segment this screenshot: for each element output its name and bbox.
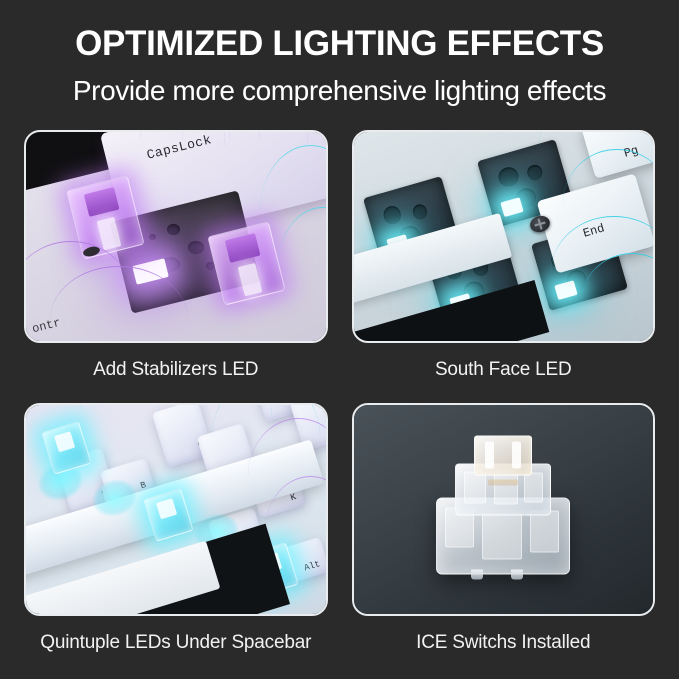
switch-stem	[474, 435, 532, 475]
ice-switch-product-image	[354, 405, 654, 614]
product-photo-south-face-led: Pg End	[352, 130, 656, 343]
feature-cell-ice-switch: ICE Switchs Installed	[352, 403, 656, 654]
keyboard-socket-closeup-image: Pg End	[354, 132, 654, 341]
product-photo-ice-switch	[352, 403, 656, 616]
caption-ice-switchs-installed: ICE Switchs Installed	[416, 632, 590, 654]
feature-grid: CapsLock ontr Add	[0, 130, 679, 654]
keyboard-spacebar-closeup-image: C G U V H J B N K M Alt	[26, 405, 326, 614]
product-photo-add-stabilizers-led: CapsLock ontr	[24, 130, 328, 343]
page-title: OPTIMIZED LIGHTING EFFECTS	[0, 26, 679, 61]
caption-add-stabilizers-led: Add Stabilizers LED	[93, 359, 258, 381]
header: OPTIMIZED LIGHTING EFFECTS Provide more …	[0, 0, 679, 105]
page-subtitle: Provide more comprehensive lighting effe…	[0, 77, 679, 105]
product-photo-quintuple-leds: C G U V H J B N K M Alt	[24, 403, 328, 616]
feature-cell-spacebar: C G U V H J B N K M Alt	[24, 403, 328, 654]
south-face-led-glow	[501, 197, 524, 216]
feature-cell-south-face: Pg End South Face LED	[352, 130, 656, 381]
caption-quintuple-leds: Quintuple LEDs Under Spacebar	[40, 632, 311, 654]
caption-south-face-led: South Face LED	[435, 359, 572, 381]
feature-cell-stabilizers: CapsLock ontr Add	[24, 130, 328, 381]
keyboard-stabilizer-closeup-image: CapsLock ontr	[26, 132, 326, 341]
